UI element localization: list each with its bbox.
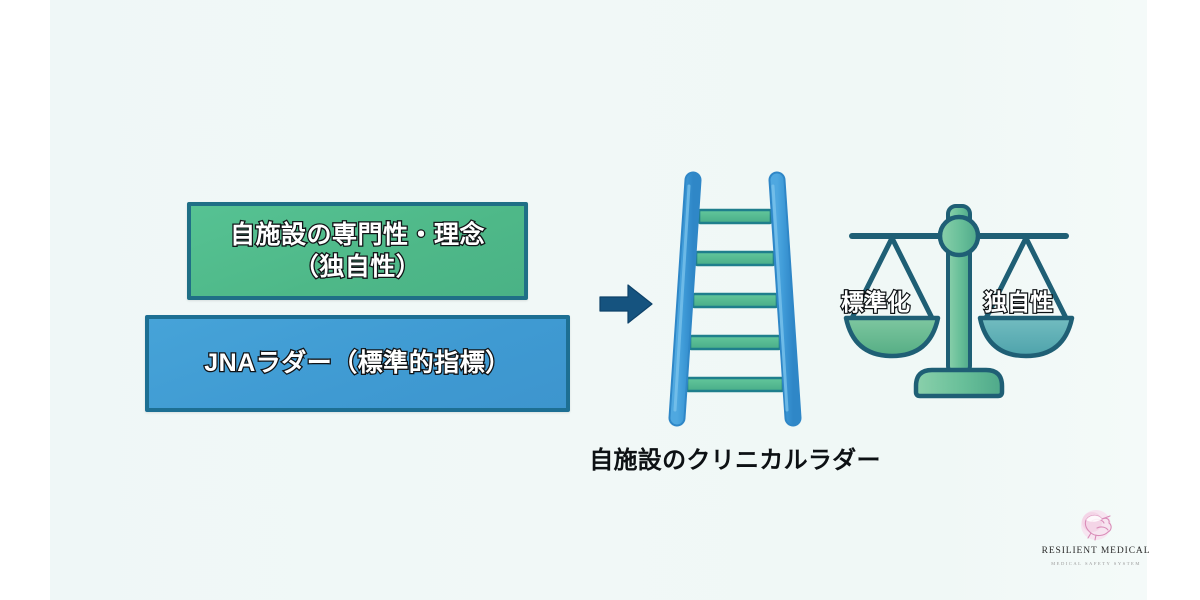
diagram-canvas: 自施設の専門性・理念 （独自性） JNAラダー（標準的指標）: [0, 0, 1200, 600]
bird-logo-icon: [1040, 508, 1152, 546]
concept-box-standard-label: JNAラダー（標準的指標）: [204, 347, 511, 380]
brand-tagline: MEDICAL SAFETY SYSTEM: [1040, 562, 1152, 567]
concept-box-unique: 自施設の専門性・理念 （独自性）: [187, 202, 528, 300]
scale-pan-left: [846, 318, 938, 356]
scale-base: [916, 370, 1002, 396]
scale-fulcrum: [940, 217, 978, 255]
ladder-icon: [655, 160, 815, 440]
brand-name: RESILIENT MEDICAL: [1040, 547, 1152, 557]
ladder-caption: 自施設のクリニカルラダー: [560, 440, 910, 475]
concept-box-standard: JNAラダー（標準的指標）: [145, 315, 570, 412]
scale-label-standardization: 標準化: [841, 283, 910, 317]
concept-box-unique-label: 自施設の専門性・理念 （独自性）: [230, 219, 485, 284]
right-arrow-icon: [598, 282, 654, 326]
scale-pan-right: [980, 318, 1072, 356]
ladder-rungs: [687, 210, 783, 391]
scale-label-uniqueness: 独自性: [984, 283, 1053, 317]
brand-logo: RESILIENT MEDICAL MEDICAL SAFETY SYSTEM: [1040, 508, 1152, 582]
